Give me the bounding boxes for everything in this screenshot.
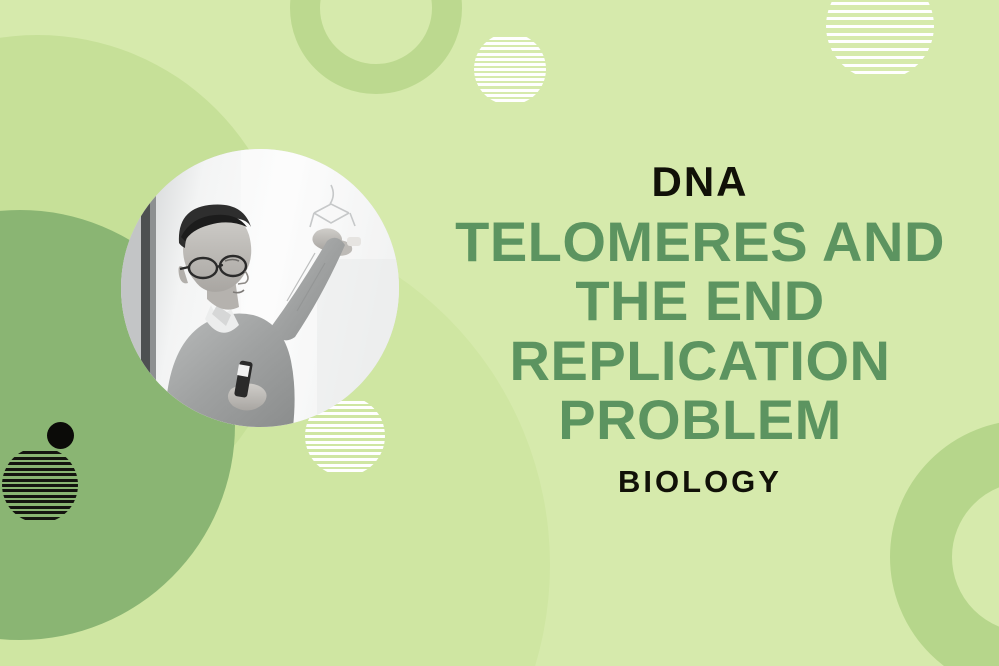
- page-title: TELOMERES AND THE END REPLICATION PROBLE…: [420, 212, 980, 449]
- stripe-line: [474, 83, 546, 86]
- stripe-line: [2, 506, 78, 509]
- striped-circle-top-right: [826, 0, 934, 80]
- decorative-black-dot: [47, 422, 74, 449]
- stripe-line: [305, 446, 385, 449]
- stripe-line: [2, 473, 78, 476]
- stripe-line: [474, 94, 546, 97]
- stripe-line: [826, 40, 934, 43]
- stripe-line: [305, 452, 385, 455]
- stripe-line: [474, 63, 546, 66]
- stripe-line: [826, 25, 934, 28]
- striped-circle-top-center: [474, 33, 546, 105]
- stripe-line: [2, 517, 78, 520]
- stripe-line: [474, 47, 546, 50]
- stripe-line: [305, 429, 385, 432]
- stripe-line: [474, 89, 546, 92]
- stripe-line: [826, 10, 934, 13]
- stripe-line: [474, 99, 546, 102]
- stripe-line: [826, 2, 934, 5]
- stripe-line: [2, 479, 78, 482]
- stripe-line: [826, 71, 934, 74]
- stripe-line: [305, 469, 385, 472]
- stripe-line: [305, 435, 385, 438]
- stripe-line: [826, 64, 934, 67]
- stripe-line: [474, 37, 546, 40]
- stripe-line: [474, 58, 546, 61]
- stripe-line: [826, 56, 934, 59]
- eyebrow-label: DNA: [420, 160, 980, 204]
- stripe-line: [2, 451, 78, 454]
- stripe-line: [2, 511, 78, 514]
- stripe-line: [2, 495, 78, 498]
- stripe-line: [305, 424, 385, 427]
- title-block: DNA TELOMERES AND THE END REPLICATION PR…: [420, 160, 980, 500]
- striped-circle-bottom-left: [2, 447, 78, 523]
- stripe-line: [474, 78, 546, 81]
- stripe-line: [2, 468, 78, 471]
- stripe-line: [826, 17, 934, 20]
- stripe-line: [474, 73, 546, 76]
- stripe-line: [826, 33, 934, 36]
- stripe-line: [474, 42, 546, 45]
- portrait-photo: [121, 149, 399, 427]
- stripe-line: [2, 462, 78, 465]
- stripe-line: [474, 68, 546, 71]
- stripe-line: [474, 53, 546, 56]
- decorative-ring-top: [290, 0, 462, 94]
- title-slide: DNA TELOMERES AND THE END REPLICATION PR…: [0, 0, 999, 666]
- stripe-line: [826, 48, 934, 51]
- stripe-line: [2, 457, 78, 460]
- stripe-line: [305, 418, 385, 421]
- stripe-line: [305, 458, 385, 461]
- stripe-line: [305, 464, 385, 467]
- stripe-line: [2, 500, 78, 503]
- stripe-line: [2, 489, 78, 492]
- subject-label: BIOLOGY: [420, 464, 980, 500]
- stripe-line: [305, 441, 385, 444]
- stripe-line: [2, 484, 78, 487]
